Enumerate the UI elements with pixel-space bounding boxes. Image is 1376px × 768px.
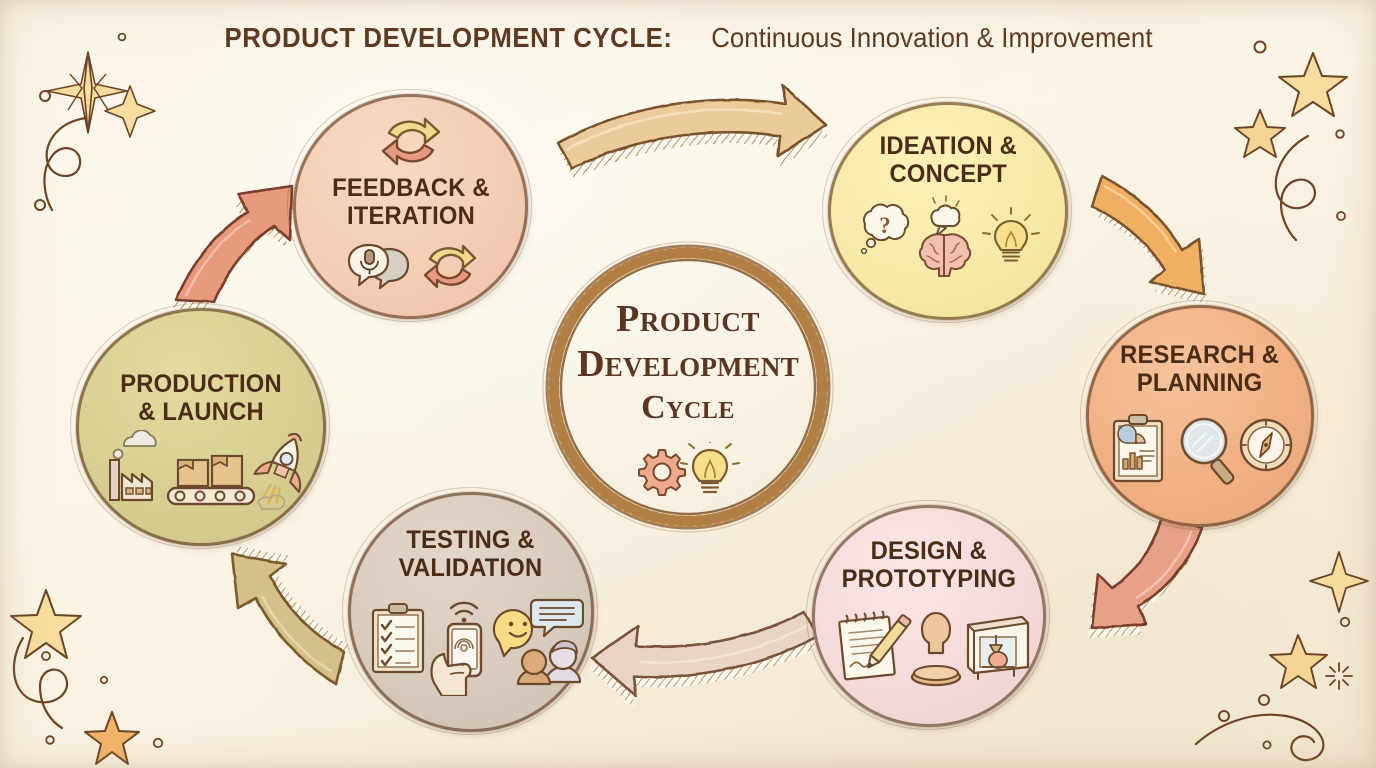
magnifier-icon (1182, 419, 1235, 485)
smoke-icon (114, 430, 156, 458)
swirl-flourish-icon (1276, 136, 1315, 240)
node-production-label: PRODUCTION & LAUNCH (120, 370, 282, 426)
deco-top-left (35, 34, 155, 210)
recycle-arrows-icon (383, 119, 439, 164)
node-ideation-label-line2: CONCEPT (879, 160, 1016, 188)
node-ideation-label: IDEATION & CONCEPT (879, 132, 1016, 188)
star-5-point-icon (1235, 110, 1285, 157)
recycle-arrows-icon (425, 246, 475, 287)
node-ideation-label-line1: IDEATION & (879, 132, 1016, 160)
star-5-point-icon (1279, 53, 1347, 116)
node-ideation-icons: ? (843, 194, 1053, 286)
node-feedback-label-line1: FEEDBACK & (332, 174, 490, 202)
burst-icon (1326, 663, 1352, 689)
star-5-point-icon (85, 712, 139, 764)
spiral-swirl-icon (1196, 715, 1323, 760)
node-production-label-line2: & LAUNCH (120, 398, 282, 426)
users-icon (518, 641, 580, 684)
compass-icon (1241, 420, 1291, 470)
smiley-icon (494, 610, 532, 656)
node-feedback-icons-bottom (326, 236, 496, 296)
factory-icon (110, 430, 156, 500)
node-research-label: RESEARCH & PLANNING (1121, 341, 1280, 397)
brain-icon (920, 234, 970, 276)
circle-dot-icon (42, 652, 50, 660)
circle-dot-icon (154, 739, 162, 747)
node-research-label-line2: PLANNING (1121, 369, 1280, 397)
star-5-point-icon (1270, 635, 1327, 688)
node-research-label-line1: RESEARCH & (1121, 341, 1280, 369)
circle-dot-icon (1337, 212, 1345, 220)
node-feedback-label: FEEDBACK & ITERATION (332, 174, 490, 230)
sparkle-4-point-icon (1310, 552, 1368, 612)
question-thought-bubble-icon: ? (862, 204, 909, 253)
diagram-stage: PRODUCT DEVELOPMENT CYCLE: Continuous In… (0, 0, 1376, 768)
circle-dot-icon (1259, 695, 1269, 705)
3d-printer-icon (968, 617, 1028, 679)
circle-dot-icon (1255, 42, 1266, 53)
node-testing-label-line1: TESTING & (399, 526, 543, 554)
clipboard-chart-icon (1114, 415, 1162, 481)
node-production-label-line1: PRODUCTION (120, 370, 282, 398)
circle-dot-icon (1219, 711, 1229, 721)
node-feedback-icon-top (356, 112, 466, 170)
sparkle-8-point-icon (47, 52, 127, 133)
circle-dot-icon (1263, 741, 1270, 748)
hand-phone-icon (432, 603, 482, 696)
circle-dot-icon (1341, 618, 1349, 626)
rocket-icon (246, 430, 316, 512)
speech-bubble-icon (531, 600, 583, 636)
node-design-label: DESIGN & PROTOTYPING (842, 537, 1017, 593)
node-testing-icons (358, 588, 584, 696)
conveyor-boxes-icon (168, 456, 254, 504)
circle-dot-icon (101, 677, 107, 683)
notepad-pencil-icon (839, 611, 911, 679)
stamp-mold-icon (912, 613, 960, 685)
node-testing-label: TESTING & VALIDATION (399, 526, 543, 582)
circle-dot-icon (40, 91, 50, 101)
node-production-icons (86, 430, 316, 526)
node-testing-label-line2: VALIDATION (399, 554, 543, 582)
deco-top-right (1235, 42, 1347, 241)
node-design-icons (824, 599, 1034, 691)
deco-bottom-right (1196, 552, 1368, 760)
svg-text:?: ? (879, 213, 891, 238)
node-design-label-line1: DESIGN & (842, 537, 1017, 565)
lightbulb-icon (983, 208, 1039, 261)
circle-dot-icon (46, 736, 54, 744)
speech-mic-icon (349, 245, 408, 288)
circle-dot-icon (35, 200, 45, 210)
node-feedback-label-line2: ITERATION (332, 202, 490, 230)
star-5-point-icon (11, 590, 81, 658)
circle-dot-icon (119, 34, 126, 41)
deco-bottom-left (11, 590, 162, 764)
swirl-flourish-icon (44, 118, 86, 210)
idea-puff-icon (931, 196, 959, 236)
checklist-clipboard-icon (373, 604, 423, 672)
node-research-icons (1100, 405, 1300, 491)
node-design-label-line2: PROTOTYPING (842, 565, 1017, 593)
wifi-signal-icon (451, 603, 477, 623)
circle-dot-icon (1336, 130, 1344, 138)
